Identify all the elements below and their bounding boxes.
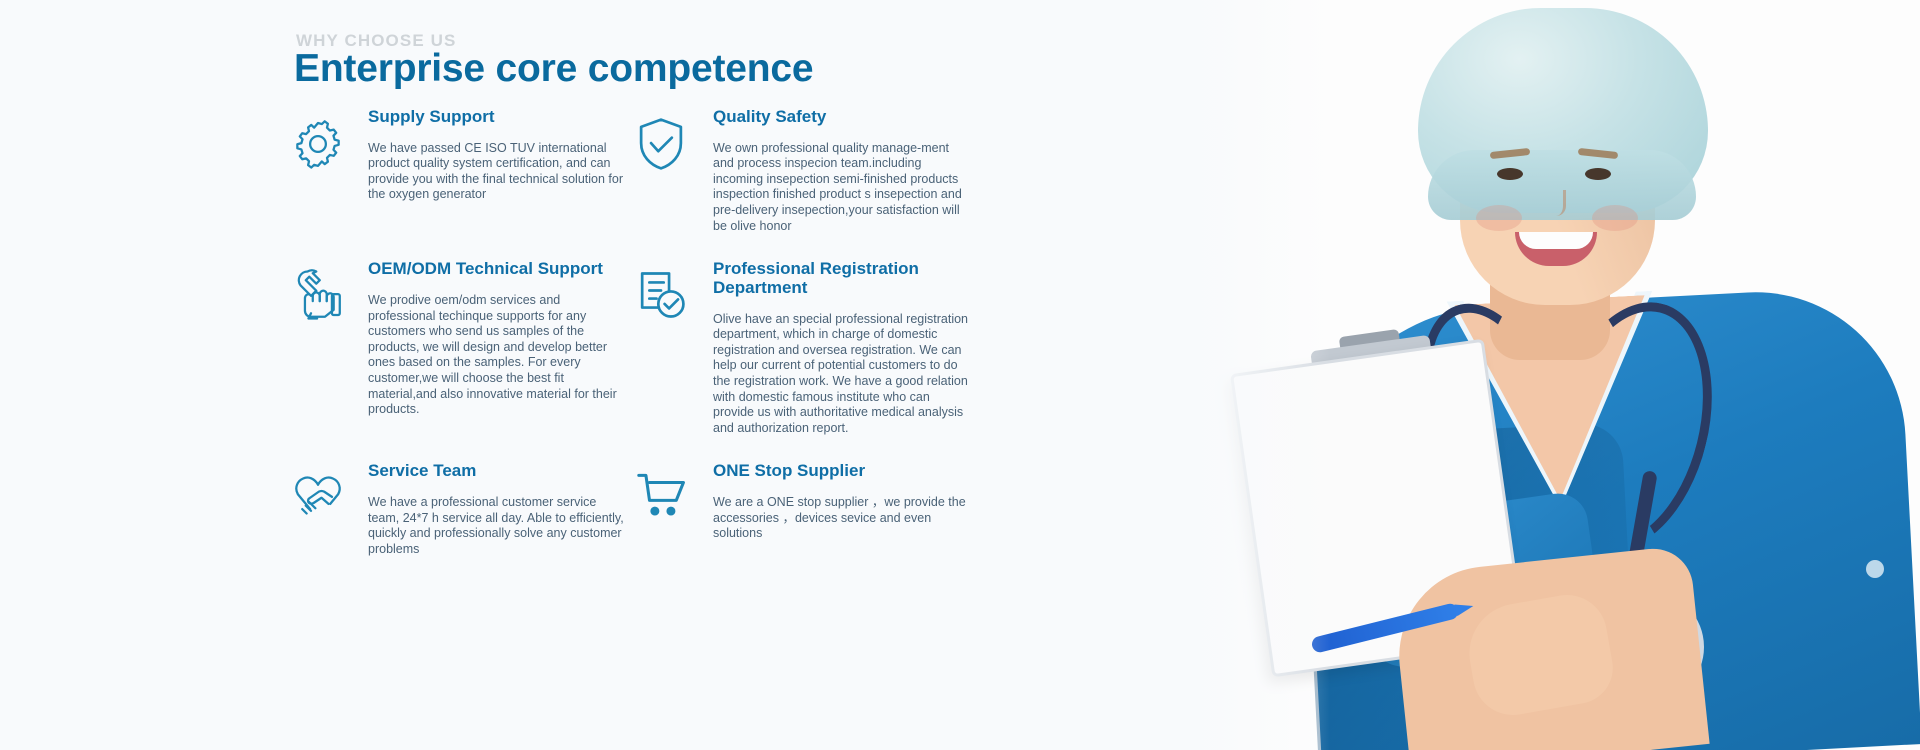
document-check-icon bbox=[635, 260, 713, 322]
nose bbox=[1545, 190, 1566, 216]
features-grid: Supply Support We have passed CE ISO TUV… bbox=[290, 108, 980, 557]
feature-title: ONE Stop Supplier bbox=[713, 462, 972, 481]
feature-body: Olive have an special professional regis… bbox=[713, 312, 972, 437]
feature-text: Professional Registration Department Oli… bbox=[713, 260, 980, 436]
feature-title: Professional Registration Department bbox=[713, 260, 972, 297]
features-row-1: Supply Support We have passed CE ISO TUV… bbox=[290, 108, 980, 234]
feature-card-supply-support[interactable]: Supply Support We have passed CE ISO TUV… bbox=[290, 108, 635, 234]
feature-card-one-stop-supplier[interactable]: ONE Stop Supplier We are a ONE stop supp… bbox=[635, 462, 980, 557]
page-root: WHY CHOOSE US Enterprise core competence… bbox=[0, 0, 1920, 750]
feature-card-service-team[interactable]: Service Team We have a professional cust… bbox=[290, 462, 635, 557]
feature-body: We prodive oem/odm services and professi… bbox=[368, 293, 627, 418]
cheek-right bbox=[1592, 205, 1638, 231]
feature-title: Supply Support bbox=[368, 108, 627, 127]
feature-title: Quality Safety bbox=[713, 108, 972, 127]
hero-photo bbox=[1160, 0, 1920, 750]
feature-body: We have a professional customer service … bbox=[368, 495, 627, 557]
shield-check-icon bbox=[635, 108, 713, 172]
hand-wrench-icon bbox=[290, 260, 368, 322]
handshake-icon bbox=[290, 462, 368, 522]
cheek-left bbox=[1476, 205, 1522, 231]
feature-text: Quality Safety We own professional quali… bbox=[713, 108, 980, 234]
feature-card-oem-odm-technical-support[interactable]: OEM/ODM Technical Support We prodive oem… bbox=[290, 260, 635, 436]
feature-text: ONE Stop Supplier We are a ONE stop supp… bbox=[713, 462, 980, 541]
content-area: WHY CHOOSE US Enterprise core competence… bbox=[0, 0, 1000, 750]
feature-title: Service Team bbox=[368, 462, 627, 481]
gear-icon bbox=[290, 108, 368, 172]
feature-body: We have passed CE ISO TUV international … bbox=[368, 141, 627, 203]
eye-right bbox=[1585, 168, 1611, 180]
badge-dot bbox=[1866, 560, 1884, 578]
feature-body: We own professional quality manage-ment … bbox=[713, 141, 972, 235]
feature-text: Service Team We have a professional cust… bbox=[368, 462, 635, 557]
feature-title: OEM/ODM Technical Support bbox=[368, 260, 627, 279]
features-row-2: OEM/ODM Technical Support We prodive oem… bbox=[290, 260, 980, 436]
feature-text: OEM/ODM Technical Support We prodive oem… bbox=[368, 260, 635, 417]
feature-card-professional-registration-department[interactable]: Professional Registration Department Oli… bbox=[635, 260, 980, 436]
teeth bbox=[1519, 232, 1593, 249]
shopping-cart-icon bbox=[635, 462, 713, 520]
feature-text: Supply Support We have passed CE ISO TUV… bbox=[368, 108, 635, 203]
page-title: Enterprise core competence bbox=[294, 47, 813, 91]
eye-left bbox=[1497, 168, 1523, 180]
feature-card-quality-safety[interactable]: Quality Safety We own professional quali… bbox=[635, 108, 980, 234]
photo-left-fade bbox=[1160, 0, 1330, 750]
feature-body: We are a ONE stop supplier ，we provide t… bbox=[713, 495, 972, 542]
features-row-3: Service Team We have a professional cust… bbox=[290, 462, 980, 557]
